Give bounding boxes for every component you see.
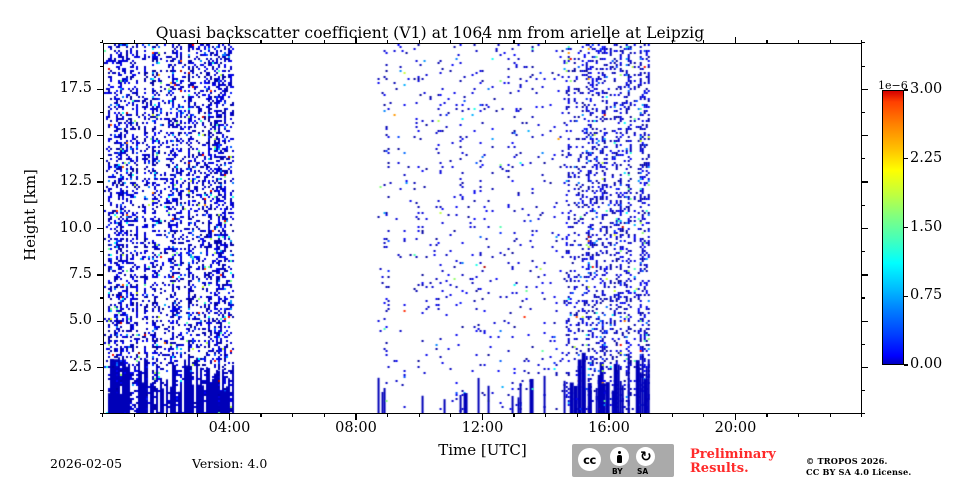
y-tick-major (862, 367, 868, 368)
x-tick-minor (830, 40, 831, 43)
x-tick-major (608, 37, 609, 43)
y-tick-major (862, 321, 868, 322)
x-tick-minor (577, 414, 578, 417)
x-tick-minor (577, 40, 578, 43)
x-tick-major (482, 37, 483, 43)
colorbar-tick (904, 296, 908, 297)
y-tick-minor (862, 42, 865, 43)
y-tick-label: 17.5 (0, 80, 92, 96)
x-tick-label: 16:00 (569, 420, 649, 436)
x-tick-minor (134, 414, 135, 417)
x-tick-minor (260, 414, 261, 417)
x-tick-minor (102, 414, 103, 417)
y-tick-minor (862, 251, 865, 252)
x-tick-label: 04:00 (190, 420, 270, 436)
y-tick-minor (862, 297, 865, 298)
colorbar-tick (904, 158, 908, 159)
x-tick-minor (798, 40, 799, 43)
x-tick-label: 08:00 (316, 420, 396, 436)
cc-by-person-icon (610, 447, 629, 466)
x-tick-minor (640, 40, 641, 43)
x-tick-minor (672, 40, 673, 43)
y-tick-minor (862, 413, 865, 414)
y-tick-major (862, 181, 868, 182)
copyright-notice: © TROPOS 2026. CC BY SA 4.0 License. (806, 456, 911, 477)
x-tick-minor (766, 414, 767, 417)
y-tick-minor (100, 413, 103, 414)
x-tick-minor (197, 40, 198, 43)
copyright-line-2: CC BY SA 4.0 License. (806, 467, 911, 478)
cc-sa-label: SA (637, 467, 648, 476)
x-tick-major (229, 37, 230, 43)
x-tick-minor (197, 414, 198, 417)
cc-icon: cc (578, 448, 601, 471)
y-tick-label: 5.0 (0, 312, 92, 328)
x-tick-major (735, 37, 736, 43)
x-tick-minor (292, 414, 293, 417)
x-tick-minor (166, 414, 167, 417)
y-tick-major (862, 135, 868, 136)
y-tick-minor (100, 205, 103, 206)
y-axis-title: Height [km] (21, 125, 39, 305)
x-tick-minor (450, 40, 451, 43)
colorbar-tick-label: 0.00 (910, 356, 942, 372)
x-tick-minor (134, 40, 135, 43)
y-tick-major (97, 274, 103, 275)
y-tick-minor (862, 344, 865, 345)
y-tick-major (97, 367, 103, 368)
x-tick-minor (324, 40, 325, 43)
y-tick-label: 2.5 (0, 359, 92, 375)
heatmap-plot-area[interactable] (103, 43, 862, 414)
colorbar-tick (904, 89, 908, 90)
x-tick-minor (830, 414, 831, 417)
colorbar-tick (904, 227, 908, 228)
colorbar-tick-label: 3.00 (910, 81, 942, 97)
preliminary-results-notice: Preliminary Results. (690, 448, 790, 476)
creative-commons-badge[interactable]: cc ↺ BY SA (572, 444, 674, 477)
y-tick-minor (100, 66, 103, 67)
x-tick-minor (545, 40, 546, 43)
y-tick-minor (862, 112, 865, 113)
x-tick-minor (861, 414, 862, 417)
y-tick-minor (100, 251, 103, 252)
cc-by-label: BY (612, 467, 623, 476)
y-tick-label: 15.0 (0, 127, 92, 143)
x-tick-minor (766, 40, 767, 43)
date-stamp: 2026-02-05 (50, 456, 122, 471)
y-tick-major (862, 89, 868, 90)
x-tick-minor (387, 40, 388, 43)
y-tick-minor (100, 390, 103, 391)
x-tick-minor (387, 414, 388, 417)
colorbar-tick (904, 364, 908, 365)
x-tick-major (355, 37, 356, 43)
x-tick-minor (419, 414, 420, 417)
y-tick-minor (100, 297, 103, 298)
x-tick-minor (260, 40, 261, 43)
x-tick-minor (703, 40, 704, 43)
y-tick-minor (100, 42, 103, 43)
y-tick-minor (100, 112, 103, 113)
cc-sa-arrow-icon: ↺ (636, 447, 655, 466)
quasi-backscatter-heatmap (104, 44, 862, 414)
y-tick-major (97, 181, 103, 182)
y-tick-major (97, 228, 103, 229)
x-tick-minor (640, 414, 641, 417)
x-tick-label: 12:00 (443, 420, 523, 436)
copyright-line-1: © TROPOS 2026. (806, 456, 911, 467)
x-tick-minor (513, 40, 514, 43)
y-tick-major (862, 274, 868, 275)
version-label: Version: 4.0 (192, 456, 267, 471)
figure-root: Quasi backscatter coefficient (V1) at 10… (0, 0, 960, 480)
x-tick-label: 20:00 (696, 420, 776, 436)
colorbar-tick-label: 2.25 (910, 150, 942, 166)
y-tick-label: 7.5 (0, 266, 92, 282)
y-tick-major (97, 321, 103, 322)
x-tick-minor (672, 414, 673, 417)
preliminary-line-2: Results. (690, 462, 790, 476)
y-tick-minor (862, 205, 865, 206)
y-tick-minor (862, 66, 865, 67)
y-tick-major (862, 228, 868, 229)
x-tick-minor (545, 414, 546, 417)
x-tick-minor (450, 414, 451, 417)
x-tick-minor (513, 414, 514, 417)
y-tick-minor (862, 158, 865, 159)
x-tick-minor (324, 414, 325, 417)
y-tick-label: 12.5 (0, 173, 92, 189)
x-tick-minor (703, 414, 704, 417)
x-tick-minor (798, 414, 799, 417)
x-tick-minor (292, 40, 293, 43)
colorbar-tick-label: 0.75 (910, 287, 942, 303)
y-tick-minor (100, 344, 103, 345)
y-tick-label: 10.0 (0, 220, 92, 236)
colorbar[interactable] (882, 90, 904, 365)
y-tick-major (97, 135, 103, 136)
y-tick-major (97, 89, 103, 90)
share-alike-glyph: ↺ (640, 450, 652, 464)
page-title: Quasi backscatter coefficient (V1) at 10… (0, 24, 860, 42)
x-tick-minor (166, 40, 167, 43)
colorbar-tick-label: 1.50 (910, 219, 942, 235)
preliminary-line-1: Preliminary (690, 448, 790, 462)
y-tick-minor (862, 390, 865, 391)
x-tick-minor (419, 40, 420, 43)
y-tick-minor (100, 158, 103, 159)
